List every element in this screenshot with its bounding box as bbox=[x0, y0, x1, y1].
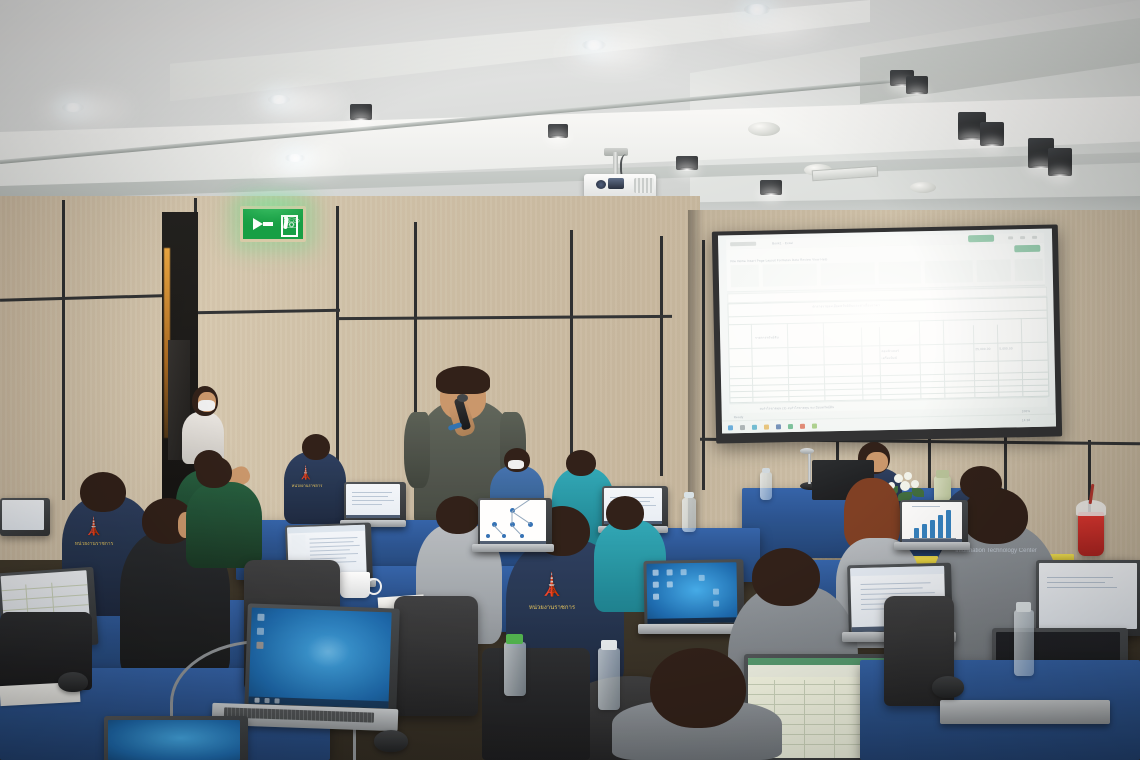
water-bottle bbox=[598, 648, 620, 710]
laptop-word-document[interactable] bbox=[346, 484, 400, 518]
face-mask bbox=[198, 400, 215, 411]
desktop-icon[interactable] bbox=[681, 569, 687, 575]
diagram-node bbox=[486, 534, 490, 538]
attendee-body bbox=[186, 482, 262, 568]
gooseneck-microphone bbox=[808, 452, 811, 484]
ceiling-light-wash bbox=[246, 140, 356, 180]
laptop-lid bbox=[0, 498, 50, 536]
attendee-head bbox=[752, 548, 820, 606]
computer-mouse[interactable] bbox=[374, 730, 408, 752]
laptop-lid bbox=[344, 482, 406, 524]
water-bottle-cap-green bbox=[506, 634, 523, 644]
desktop-icon[interactable] bbox=[699, 575, 705, 581]
desktop-icon[interactable] bbox=[257, 614, 264, 621]
black-surface-spotlight bbox=[350, 104, 372, 120]
chart-bar bbox=[946, 510, 951, 538]
uniform-logo-text: หน่วยงานราชการ bbox=[66, 540, 122, 548]
spreadsheet-row-line bbox=[3, 604, 89, 611]
garuda-emblem-icon: 🗼 bbox=[72, 518, 116, 535]
desktop-icon[interactable] bbox=[256, 642, 263, 649]
attendee-head bbox=[606, 496, 644, 530]
microphone-head bbox=[457, 394, 468, 402]
diagram-node bbox=[502, 534, 506, 538]
black-surface-spotlight bbox=[1048, 148, 1072, 176]
black-surface-spotlight bbox=[980, 122, 1004, 146]
exit-sign-ceiling-glow bbox=[226, 192, 316, 218]
laptop-network-diagram[interactable] bbox=[480, 500, 546, 544]
laptop-taskbar[interactable] bbox=[647, 617, 737, 624]
document-text-line bbox=[309, 537, 357, 540]
exit-arrow-icon bbox=[253, 218, 263, 230]
black-surface-spotlight bbox=[676, 156, 698, 170]
attendee-head bbox=[196, 456, 232, 488]
spreadsheet-col-line bbox=[834, 680, 835, 758]
document-text-line bbox=[310, 553, 358, 556]
document-ribbon[interactable] bbox=[850, 566, 944, 576]
laptop-bar-chart[interactable] bbox=[902, 502, 962, 542]
diagram-node bbox=[520, 534, 524, 538]
water-bottle-cap bbox=[762, 468, 770, 473]
projector-vent bbox=[634, 178, 654, 193]
document-text-line bbox=[352, 500, 394, 501]
spreadsheet-row-line bbox=[2, 594, 88, 601]
laptop-base bbox=[894, 542, 970, 550]
projector-brightness-overlay bbox=[718, 229, 1056, 434]
diagram-edge bbox=[494, 525, 503, 534]
water-bottle bbox=[760, 472, 772, 500]
windows-logo-watermark bbox=[306, 633, 351, 669]
green-thermos-cap bbox=[936, 470, 949, 478]
gooseneck-microphone-head bbox=[800, 448, 814, 454]
chart-title-line bbox=[912, 506, 940, 507]
wall-panel-seam bbox=[336, 206, 339, 476]
attendee-head bbox=[566, 450, 596, 476]
flower-blossom bbox=[900, 481, 910, 491]
ceiling-light-wash bbox=[548, 24, 678, 76]
water-bottle-cap bbox=[1016, 602, 1031, 612]
ceiling-light-wash bbox=[712, 0, 842, 48]
document-text-line bbox=[310, 541, 354, 544]
diagram-edge bbox=[512, 500, 531, 512]
attendee-head bbox=[302, 434, 330, 460]
flower-blossom bbox=[904, 472, 912, 480]
laptop-lid bbox=[900, 500, 968, 548]
laptop-win10-desktop[interactable] bbox=[248, 608, 391, 709]
laptop-win10-desktop[interactable] bbox=[108, 720, 240, 760]
desktop-icon[interactable] bbox=[653, 582, 659, 588]
chart-bar bbox=[938, 515, 943, 538]
spreadsheet-col-line bbox=[804, 680, 805, 758]
document-text-line bbox=[352, 504, 382, 505]
smoke-detector bbox=[910, 182, 936, 193]
chart-bar bbox=[914, 528, 919, 538]
diagram-edge bbox=[512, 525, 521, 534]
desktop-icon[interactable] bbox=[653, 594, 659, 600]
diagram-edge bbox=[512, 512, 513, 524]
black-surface-spotlight bbox=[906, 76, 928, 94]
water-bottle bbox=[504, 642, 526, 696]
wall-panel-seam bbox=[570, 230, 573, 480]
document-text-line bbox=[861, 592, 935, 595]
computer-mouse[interactable] bbox=[58, 672, 88, 692]
red-drink-cup bbox=[1078, 512, 1104, 556]
presenter-arm-right bbox=[404, 412, 430, 488]
water-bottle-cap bbox=[684, 492, 694, 498]
desktop-icon[interactable] bbox=[667, 569, 673, 575]
desktop-icon[interactable] bbox=[713, 589, 719, 595]
water-bottle bbox=[1014, 610, 1034, 676]
document-text-line bbox=[1047, 587, 1117, 588]
water-bottle-cap bbox=[601, 640, 617, 650]
desktop-icon[interactable] bbox=[257, 628, 264, 635]
exit-arrow-tail bbox=[263, 222, 273, 226]
wall-panel-seam bbox=[660, 236, 663, 476]
water-bottle bbox=[682, 498, 696, 532]
presenter-hair bbox=[436, 366, 490, 394]
chart-bar bbox=[922, 524, 927, 538]
face-mask bbox=[508, 460, 524, 469]
document-text-line bbox=[1047, 582, 1105, 583]
spreadsheet-row-line bbox=[2, 584, 88, 591]
document-ribbon[interactable] bbox=[287, 525, 365, 534]
attendee-head bbox=[436, 496, 480, 534]
desktop-icon[interactable] bbox=[653, 570, 659, 576]
laptop-lid bbox=[1036, 560, 1140, 636]
flower-leaf bbox=[912, 488, 924, 497]
projection-screen[interactable]: Book1 - Excel File Home Insert Page Layo… bbox=[718, 229, 1056, 434]
taskbar-icon[interactable] bbox=[254, 698, 259, 703]
document-text-line bbox=[352, 492, 392, 493]
taskbar-icon[interactable] bbox=[274, 698, 279, 703]
conference-room-photo: ☏ Book1 - Excel File Home Insert Page La… bbox=[0, 0, 1140, 760]
desktop-icon[interactable] bbox=[713, 601, 719, 607]
flower-blossom bbox=[911, 480, 919, 488]
document-text-line bbox=[861, 582, 931, 585]
black-surface-spotlight bbox=[548, 124, 568, 138]
chart-bar bbox=[930, 520, 935, 538]
ceiling-light-wash bbox=[236, 78, 356, 126]
banquet-chair[interactable] bbox=[394, 596, 478, 716]
laptop-win10-desktop[interactable] bbox=[646, 562, 737, 624]
projector-lens bbox=[596, 180, 606, 189]
laptop-lid bbox=[643, 559, 744, 631]
desktop-icon[interactable] bbox=[667, 581, 673, 587]
ceiling-light-wash bbox=[30, 86, 140, 132]
laptop-lid bbox=[478, 498, 552, 550]
coffee-mug-handle bbox=[366, 578, 382, 595]
uniform-logo-text: หน่วยงานราชการ bbox=[516, 602, 588, 612]
laptop-lid bbox=[244, 603, 400, 716]
wall-panel-seam bbox=[62, 200, 65, 500]
attendee-head bbox=[80, 472, 126, 512]
smoke-detector bbox=[748, 122, 780, 136]
black-surface-spotlight bbox=[760, 180, 782, 195]
computer-mouse[interactable] bbox=[932, 676, 964, 698]
laptop-taskbar[interactable] bbox=[346, 515, 400, 518]
backpack bbox=[482, 648, 590, 760]
garuda-emblem-icon: 🗼 bbox=[524, 574, 580, 596]
laptop-lid bbox=[104, 716, 248, 760]
uniform-logo-text: หน่วยงานราชการ bbox=[286, 482, 328, 489]
laptop-word-document[interactable] bbox=[2, 500, 44, 530]
taskbar-icon[interactable] bbox=[264, 698, 269, 703]
laptop-word-document[interactable] bbox=[1039, 563, 1137, 629]
document-text-line bbox=[861, 587, 923, 590]
attendee-head bbox=[962, 488, 1028, 544]
document-text-line bbox=[352, 496, 388, 497]
laptop-base bbox=[472, 544, 554, 552]
projector-detail bbox=[608, 178, 624, 189]
garuda-emblem-icon: 🗼 bbox=[290, 466, 322, 479]
document-text-line bbox=[310, 549, 350, 551]
laptop-base bbox=[940, 700, 1110, 724]
attendee-head bbox=[650, 648, 746, 728]
document-text-line bbox=[310, 545, 360, 548]
document-text-line bbox=[1047, 577, 1113, 578]
